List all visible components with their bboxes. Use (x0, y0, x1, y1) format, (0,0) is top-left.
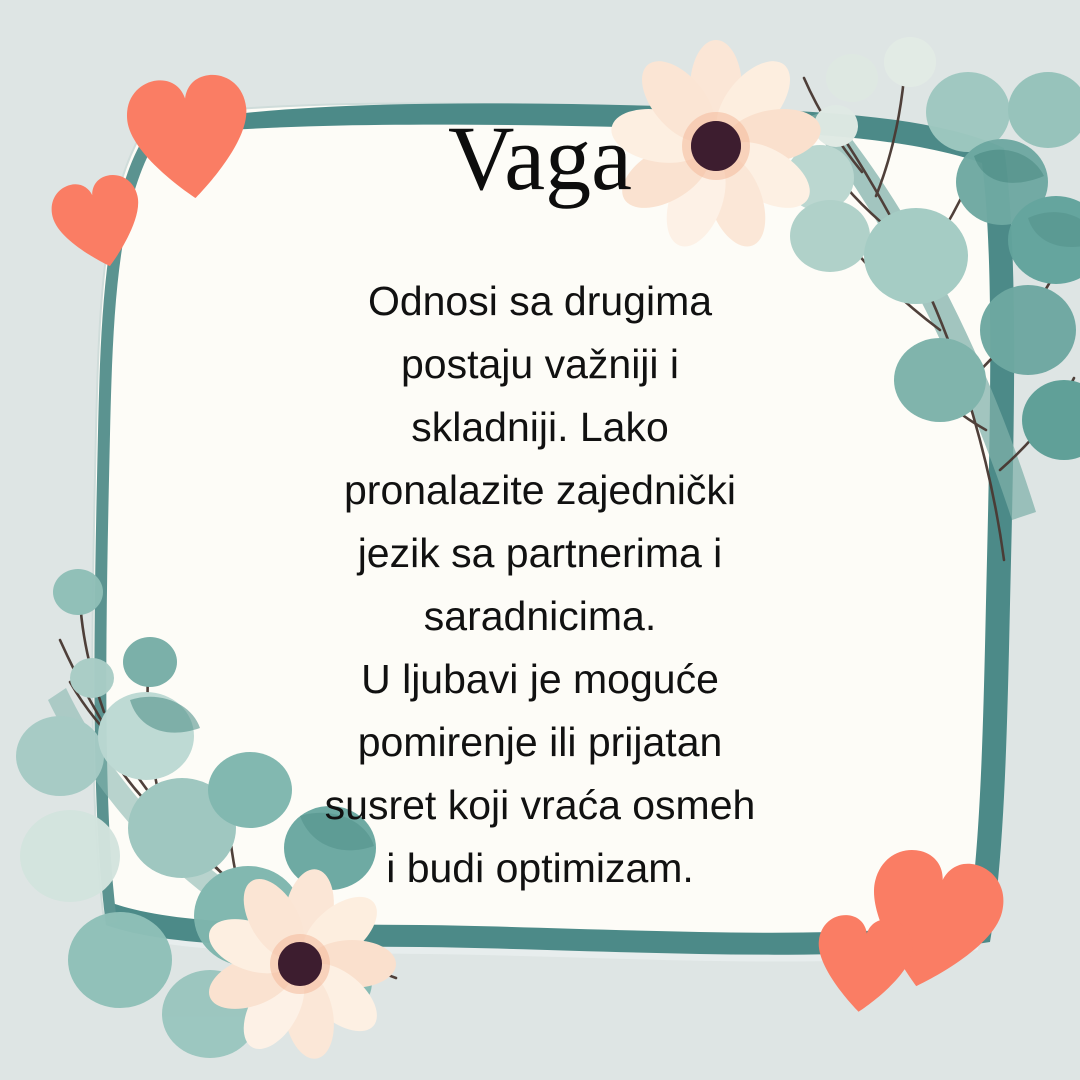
heart-bottom-right-small (812, 912, 915, 1016)
heart-top-left-large (123, 72, 255, 205)
heart-decorations (0, 0, 1080, 1080)
poster-canvas: Vaga Odnosi sa drugima postaju važniji i… (0, 0, 1080, 1080)
heart-top-left-small (46, 170, 152, 277)
